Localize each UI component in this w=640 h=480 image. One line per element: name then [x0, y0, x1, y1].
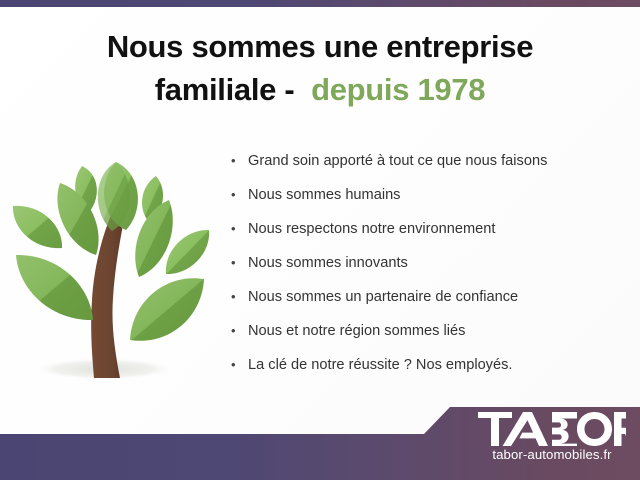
top-accent-bar: [0, 0, 640, 7]
tree-leaf: [16, 255, 93, 320]
page-title: Nous sommes une entreprise familiale - d…: [0, 26, 640, 112]
slide-canvas: Nous sommes une entreprise familiale - d…: [0, 0, 640, 480]
list-item: La clé de notre réussite ? Nos employés.: [230, 352, 630, 378]
brand-bar-shape: [0, 407, 640, 480]
list-item: Nous et notre région sommes liés: [230, 318, 630, 344]
list-item: Nous respectons notre environnement: [230, 216, 630, 242]
tree-leaf: [166, 230, 209, 274]
list-item: Nous sommes humains: [230, 182, 630, 208]
page-title-line-2-main: familiale -: [155, 72, 311, 107]
page-title-accent: depuis 1978: [311, 72, 485, 107]
benefits-list: Grand soin apporté à tout ce que nous fa…: [230, 148, 630, 386]
list-item: Nous sommes un partenaire de confiance: [230, 284, 630, 310]
list-item: Nous sommes innovants: [230, 250, 630, 276]
tree-leaf: [130, 278, 204, 341]
tree-leaf: [13, 206, 62, 248]
page-title-line-2: familiale - depuis 1978: [0, 69, 640, 112]
list-item: Grand soin apporté à tout ce que nous fa…: [230, 148, 630, 174]
brand-footer-bar: [0, 398, 640, 480]
tree-illustration: [8, 138, 214, 388]
page-title-line-1: Nous sommes une entreprise: [107, 29, 533, 64]
